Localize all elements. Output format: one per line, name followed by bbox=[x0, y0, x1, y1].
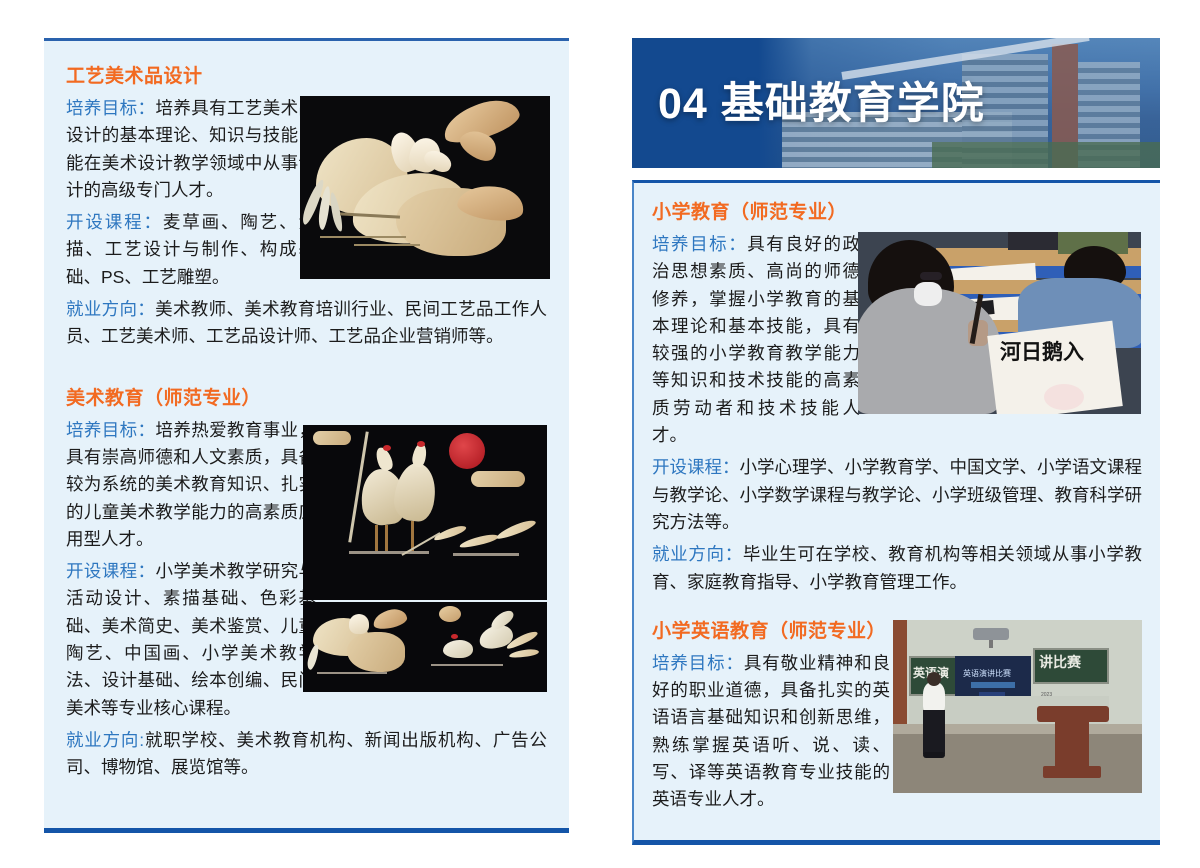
image-calligraphy-class: 河日鹅入 bbox=[858, 232, 1141, 414]
courses-paragraph: 开设课程：小学美术教学研究与活动设计、素描基础、色彩基础、美术简史、美术鉴赏、儿… bbox=[66, 558, 316, 722]
image-straw-art-lotus-birds bbox=[303, 602, 547, 692]
courses-label: 开设课程： bbox=[652, 457, 740, 477]
courses-paragraph: 开设课程：小学心理学、小学教育学、中国文学、小学语文课程与教学论、小学数学课程与… bbox=[652, 454, 1142, 536]
training-objective-text: 具有敬业精神和良好的职业道德，具备扎实的英语语言基础知识和创新思维，熟练掌握英语… bbox=[652, 653, 890, 809]
screen-title-text: 英语演讲比赛 bbox=[963, 668, 1011, 679]
image-straw-art-cranes bbox=[303, 425, 547, 600]
brochure-page: 工艺美术品设计 培养目标：培养具有工艺美术品设计的基本理论、知识与技能，能在美术… bbox=[0, 0, 1200, 868]
training-objective-paragraph: 培养目标：具有良好的政治思想素质、高尚的师德修养，掌握小学教育的基本理论和基本技… bbox=[652, 231, 860, 449]
training-objective-text: 具有良好的政治思想素质、高尚的师德修养，掌握小学教育的基本理论和基本技能，具有较… bbox=[652, 234, 860, 445]
page-title: 04 基础教育学院 bbox=[658, 69, 985, 131]
training-objective-label: 培养目标： bbox=[66, 98, 155, 118]
major-title: 小学教育（师范专业） bbox=[652, 197, 1142, 224]
courses-label: 开设课程： bbox=[66, 561, 155, 581]
employment-paragraph: 就业方向：美术教师、美术教育培训行业、民间工艺品工作人员、工艺美术师、工艺品设计… bbox=[66, 296, 547, 351]
employment-paragraph: 就业方向：毕业生可在学校、教育机构等相关领域从事小学教育、家庭教育指导、小学教育… bbox=[652, 541, 1142, 596]
image-english-speech-contest: 英语演 讲比赛 英语演讲比赛 2023 bbox=[893, 620, 1142, 793]
training-objective-label: 培养目标： bbox=[66, 420, 155, 440]
employment-label: 就业方向: bbox=[66, 730, 144, 750]
calligraphy-characters: 河日鹅入 bbox=[1000, 336, 1084, 366]
section-spacer bbox=[66, 357, 547, 383]
training-objective-paragraph: 培养目标：培养具有工艺美术品设计的基本理论、知识与技能，能在美术设计教学领域中从… bbox=[66, 95, 316, 204]
section-header-banner: 04 基础教育学院 bbox=[632, 38, 1160, 168]
employment-paragraph: 就业方向:就职学校、美术教育机构、新闻出版机构、广告公司、博物馆、展览馆等。 bbox=[66, 727, 547, 782]
training-objective-label: 培养目标： bbox=[652, 653, 744, 673]
blackboard-right-text: 讲比赛 bbox=[1039, 652, 1081, 672]
employment-label: 就业方向： bbox=[652, 544, 743, 564]
courses-label: 开设课程： bbox=[66, 212, 163, 232]
major-title: 美术教育（师范专业） bbox=[66, 383, 547, 410]
training-objective-paragraph: 培养目标：具有敬业精神和良好的职业道德，具备扎实的英语语言基础知识和创新思维，熟… bbox=[652, 650, 890, 814]
courses-text: 小学美术教学研究与活动设计、素描基础、色彩基础、美术简史、美术鉴赏、儿童陶艺、中… bbox=[66, 561, 316, 717]
training-objective-label: 培养目标： bbox=[652, 234, 747, 254]
courses-paragraph: 开设课程：麦草画、陶艺、素描、工艺设计与制作、构成基础、PS、工艺雕塑。 bbox=[66, 209, 316, 291]
major-title: 工艺美术品设计 bbox=[66, 61, 547, 88]
image-straw-art-fish-lotus bbox=[300, 96, 550, 279]
section-spacer bbox=[652, 602, 1142, 616]
training-objective-paragraph: 培养目标：培养热爱教育事业，具有崇高师德和人文素质，具备较为系统的美术教育知识、… bbox=[66, 417, 316, 553]
employment-label: 就业方向： bbox=[66, 299, 155, 319]
